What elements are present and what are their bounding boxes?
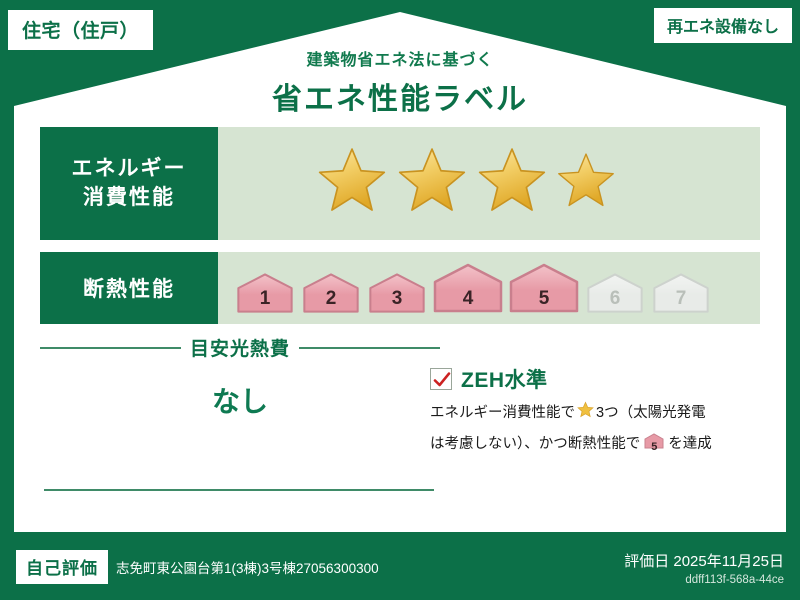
insulation-badge-5: 5 (508, 262, 580, 314)
inline-house-badge-number: 5 (644, 439, 664, 456)
utility-cost-heading: 目安光熱費 (40, 334, 440, 361)
energy-performance-label: 住宅（住戸） 再エネ設備なし 建築物省エネ法に基づく 省エネ性能ラベル エネルギ… (0, 0, 800, 600)
building-type-tag: 住宅（住戸） (8, 10, 153, 50)
renewable-energy-tag-label: 再エネ設備なし (667, 19, 779, 36)
renewable-energy-tag: 再エネ設備なし (654, 8, 792, 43)
utility-cost-underline (44, 489, 434, 491)
insulation-badge-6: 6 (584, 272, 646, 314)
zeh-title: ZEH水準 (461, 364, 548, 394)
evaluation-date: 評価日 2025年11月25日 (624, 550, 784, 571)
footer-right: 評価日 2025年11月25日 ddff113f-568a-44ce (624, 550, 784, 586)
property-address: 志免町東公園台第1(3棟)3号棟27056300300 (116, 557, 379, 577)
heading-rule-left (40, 347, 181, 349)
zeh-desc-text-after-badge: を達成 (668, 434, 712, 456)
zeh-description-line-2: は考慮しない）、かつ断熱性能で 5 を達成 (430, 433, 770, 457)
star-icon (577, 401, 594, 426)
zeh-section: ZEH水準 エネルギー消費性能で 3つ（太陽光発電 は考慮しない）、かつ断熱性能… (430, 364, 770, 457)
energy-performance-value (218, 127, 760, 240)
energy-performance-label-line2: 消費性能 (83, 184, 175, 212)
zeh-heading: ZEH水準 (430, 364, 770, 394)
insulation-performance-label: 断熱性能 (40, 252, 218, 324)
star-icon (554, 149, 618, 218)
insulation-badge-1: 1 (234, 272, 296, 314)
heading-rule-right (299, 347, 440, 349)
insulation-badge-number: 2 (300, 288, 362, 310)
star-icon (314, 143, 390, 224)
utility-cost-value: なし (40, 380, 440, 420)
footer-left: 自己評価 志免町東公園台第1(3棟)3号棟27056300300 (16, 550, 379, 584)
star-rating (218, 143, 618, 224)
insulation-badge-7: 7 (650, 272, 712, 314)
energy-performance-label-line1: エネルギー (72, 155, 187, 183)
building-type-tag-label: 住宅（住戸） (22, 21, 139, 42)
insulation-badge-number: 3 (366, 288, 428, 310)
insulation-performance-label-text: 断熱性能 (83, 273, 175, 303)
insulation-performance-value: 1234567 (218, 252, 760, 324)
label-title-block: 建築物省エネ法に基づく 省エネ性能ラベル (0, 46, 800, 118)
zeh-description-line-1: エネルギー消費性能で 3つ（太陽光発電 (430, 401, 770, 426)
insulation-badge-3: 3 (366, 272, 428, 314)
label-body: エネルギー 消費性能 断熱性能 1234567 目安光熱費 なし (22, 112, 778, 532)
zeh-desc-text-before-badge: は考慮しない）、かつ断熱性能で (430, 434, 640, 456)
insulation-badge-number: 4 (432, 288, 504, 310)
insulation-badge-number: 6 (584, 288, 646, 310)
energy-performance-row: エネルギー 消費性能 (40, 127, 760, 240)
insulation-badge-number: 1 (234, 288, 296, 310)
insulation-badge-number: 5 (508, 288, 580, 310)
star-icon (474, 143, 550, 224)
insulation-badge-scale: 1234567 (218, 262, 712, 314)
insulation-badge-2: 2 (300, 272, 362, 314)
self-evaluation-badge: 自己評価 (16, 550, 108, 584)
utility-cost-heading-label: 目安光熱費 (190, 334, 290, 361)
zeh-desc-text-before-star: エネルギー消費性能で (430, 403, 575, 425)
check-icon (431, 369, 453, 391)
insulation-performance-row: 断熱性能 1234567 (40, 252, 760, 324)
evaluation-id: ddff113f-568a-44ce (624, 574, 784, 586)
energy-performance-label: エネルギー 消費性能 (40, 127, 218, 240)
star-icon (394, 143, 470, 224)
inline-house-badge-icon: 5 (644, 433, 664, 457)
insulation-badge-number: 7 (650, 288, 712, 310)
zeh-checkbox[interactable] (430, 368, 452, 390)
zeh-desc-text-after-star: 3つ（太陽光発電 (596, 403, 706, 425)
insulation-badge-4: 4 (432, 262, 504, 314)
